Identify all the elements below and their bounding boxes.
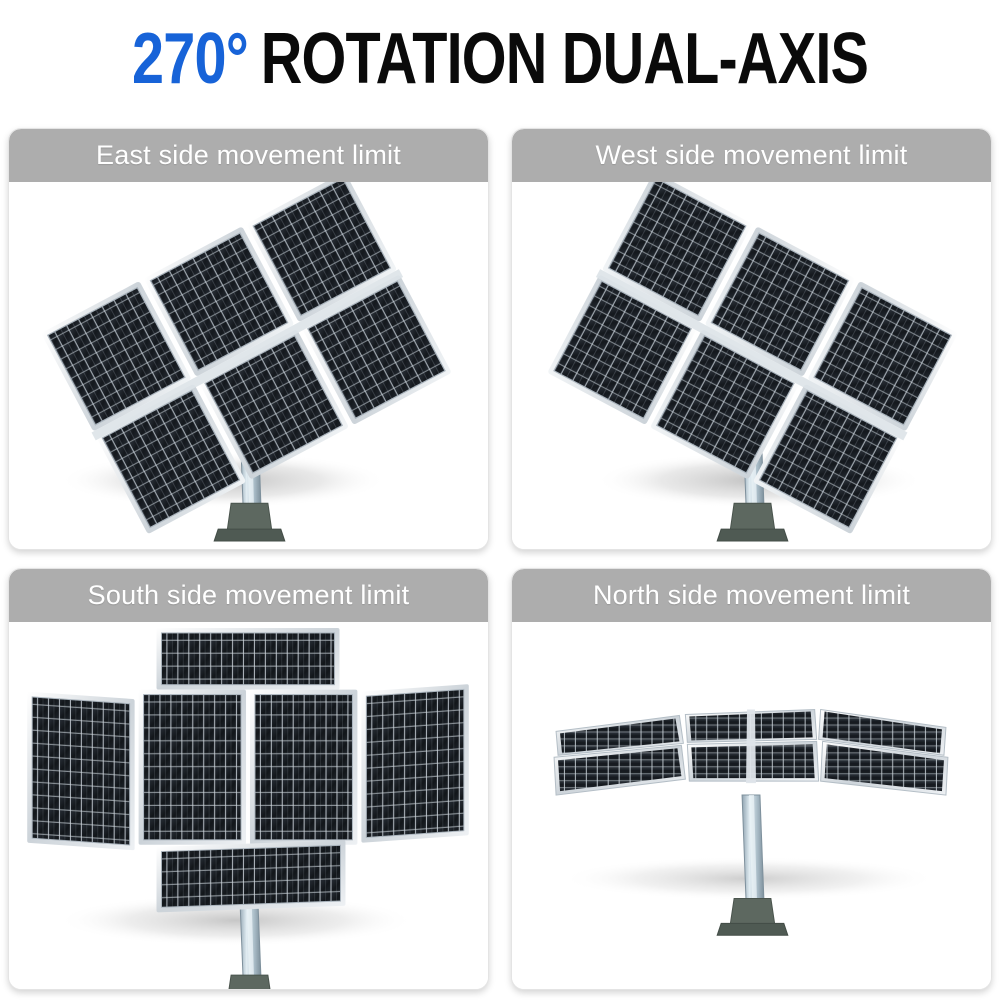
title-text: ROTATION DUAL-AXIS bbox=[261, 23, 868, 95]
solar-tracker-icon bbox=[9, 622, 488, 989]
card-south: South side movement limit bbox=[8, 568, 489, 990]
card-body-north bbox=[512, 622, 991, 989]
card-body-south bbox=[9, 622, 488, 989]
solar-tracker-icon bbox=[512, 622, 991, 989]
product-infographic: 270° ROTATION DUAL-AXIS East side moveme… bbox=[0, 0, 1000, 1000]
card-west: West side movement limit bbox=[511, 128, 992, 550]
card-title-south: South side movement limit bbox=[88, 580, 410, 611]
solar-tracker-icon bbox=[512, 182, 991, 549]
card-title-north: North side movement limit bbox=[593, 580, 910, 611]
card-header-west: West side movement limit bbox=[512, 129, 991, 182]
solar-tracker-icon bbox=[9, 182, 488, 549]
card-header-east: East side movement limit bbox=[9, 129, 488, 182]
card-body-east bbox=[9, 182, 488, 549]
card-body-west bbox=[512, 182, 991, 549]
card-east: East side movement limit bbox=[8, 128, 489, 550]
title-degrees: 270° bbox=[132, 23, 248, 95]
panel-card-grid: East side movement limit bbox=[8, 128, 992, 990]
card-title-east: East side movement limit bbox=[96, 140, 401, 171]
card-header-south: South side movement limit bbox=[9, 569, 488, 622]
page-title: 270° ROTATION DUAL-AXIS bbox=[0, 0, 1000, 118]
card-north: North side movement limit bbox=[511, 568, 992, 990]
card-title-west: West side movement limit bbox=[596, 140, 908, 171]
card-header-north: North side movement limit bbox=[512, 569, 991, 622]
